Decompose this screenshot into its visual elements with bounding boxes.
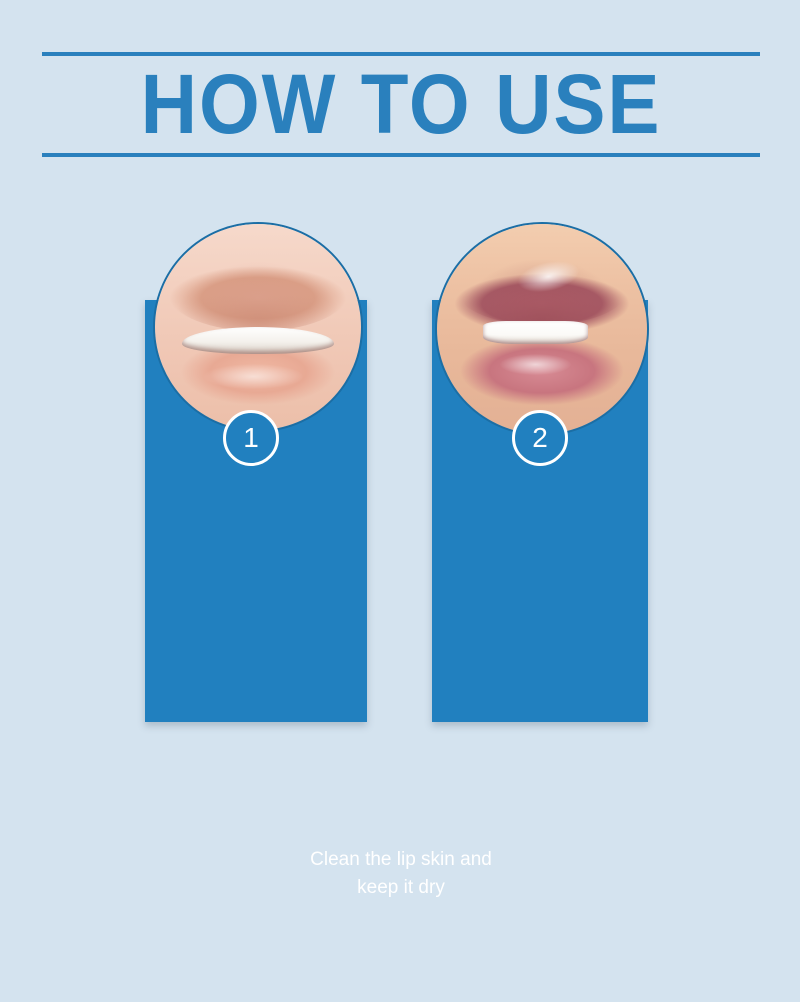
title-rule-bottom	[42, 153, 760, 157]
step-1-line-1: Clean the lip skin and keep it dry	[305, 846, 497, 902]
page-title: HOW TO USE	[67, 56, 735, 153]
teeth-highlight	[483, 321, 588, 344]
step-2-photo	[435, 222, 649, 436]
lips-illustration-2	[437, 224, 647, 434]
step-1-photo	[153, 222, 363, 432]
title-block: HOW TO USE	[42, 52, 760, 157]
step-2-number-badge: 2	[512, 410, 568, 466]
teeth-highlight	[182, 327, 334, 354]
lip-gloss-highlight	[204, 364, 303, 389]
lips-illustration-1	[155, 224, 361, 430]
lip-upper-shadow	[171, 261, 344, 331]
step-1-number-badge: 1	[223, 410, 279, 466]
lip-gloss-highlight-secondary	[500, 354, 571, 375]
step-1-description: Clean the lip skin and keep it dry	[305, 846, 497, 902]
